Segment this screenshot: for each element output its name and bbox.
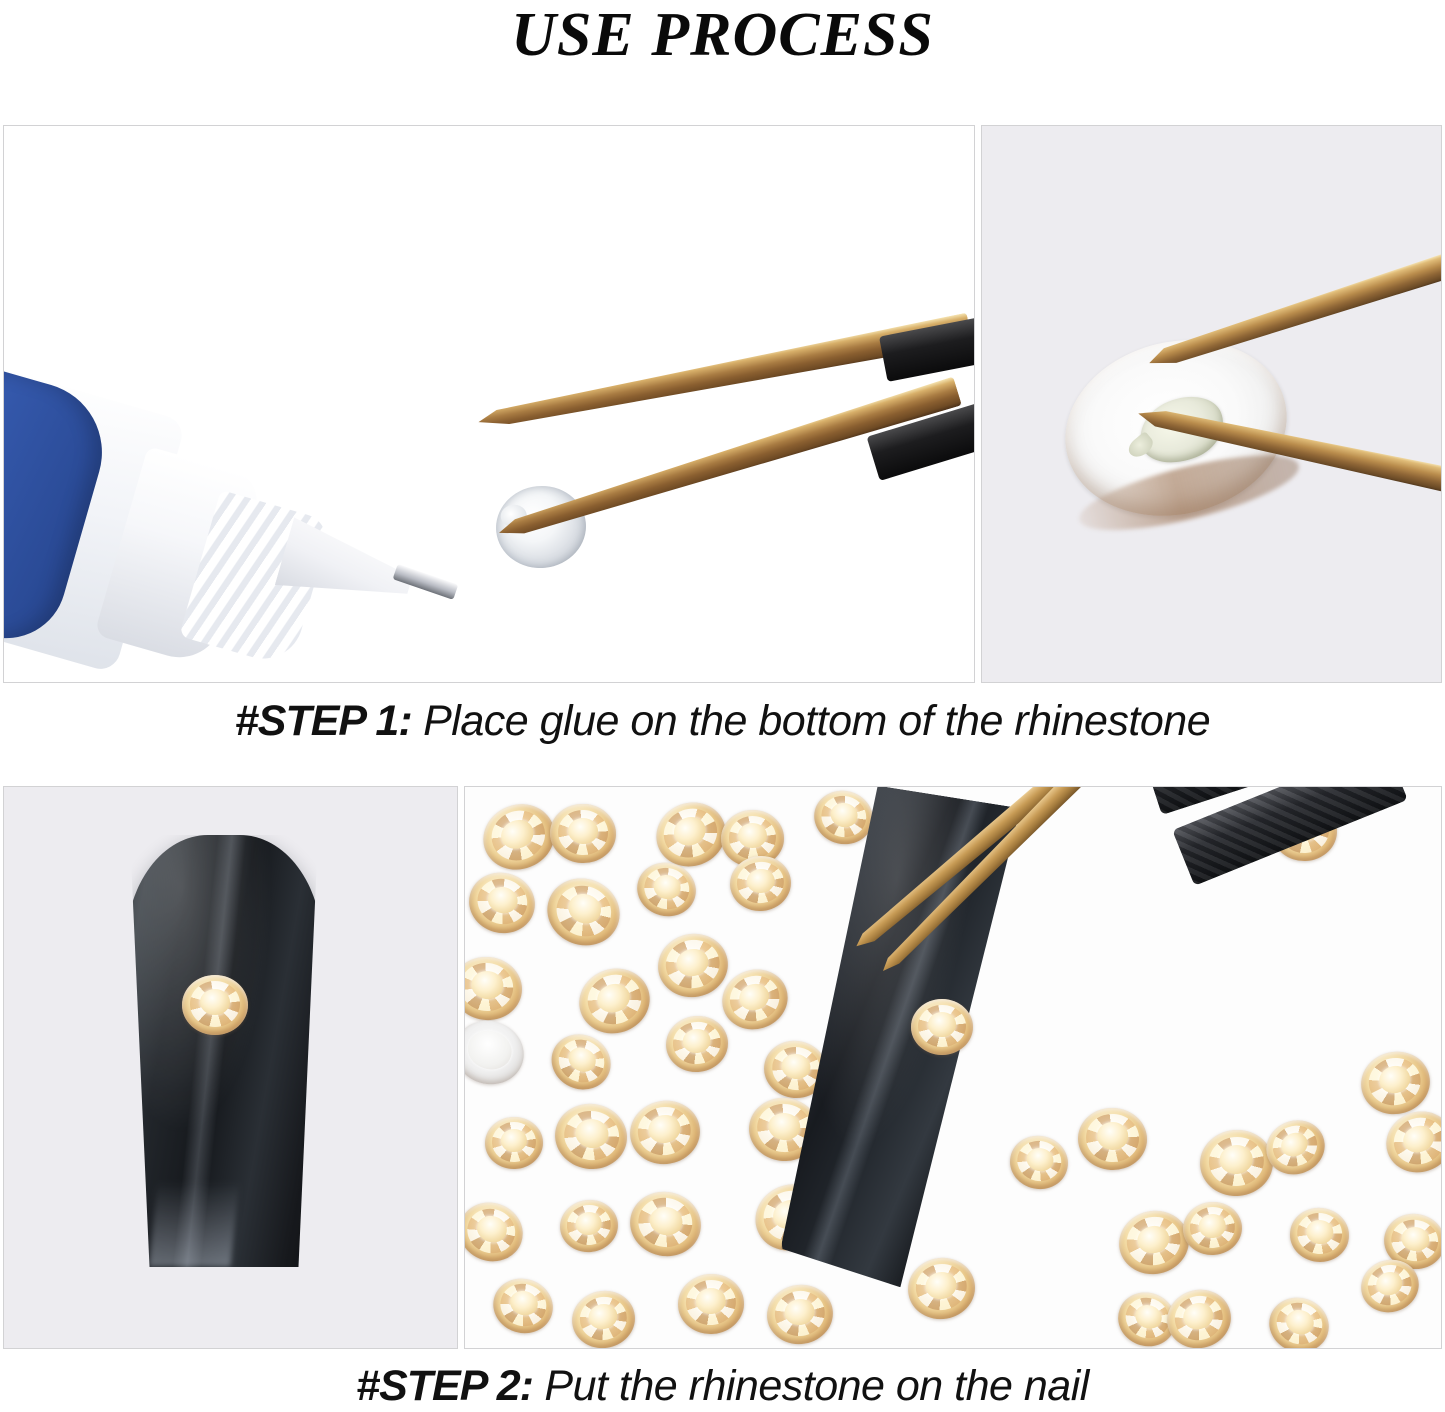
rhinestone [464, 866, 542, 941]
glue-nozzle-metal-tip [393, 564, 459, 600]
rhinestone [1378, 1103, 1442, 1181]
tweezer-handle-lower [1172, 786, 1408, 886]
finished-nail-photo [3, 786, 458, 1349]
rhinestone [625, 1095, 705, 1169]
rhinestone [551, 1099, 633, 1174]
rhinestone [676, 1272, 747, 1336]
step-2-panel-row [3, 786, 1442, 1349]
rhinestone [1287, 1205, 1352, 1265]
rhinestone [464, 953, 526, 1024]
rhinestone [543, 1025, 621, 1100]
step-2-label: #STEP 2: [356, 1362, 533, 1410]
rhinestone [571, 959, 659, 1042]
rhinestone [567, 1285, 640, 1349]
rhinestone [537, 868, 629, 955]
rhinestone [549, 802, 617, 864]
rhinestone [1113, 1204, 1195, 1281]
rhinestone [762, 1280, 837, 1349]
glue-bottle [3, 331, 347, 683]
rhinestone [1005, 1131, 1073, 1194]
step-1-caption: #STEP 1: Place glue on the bottom of the… [0, 697, 1445, 746]
dark-press-on-nail [126, 835, 322, 1267]
step-1-panel-row [3, 125, 1442, 683]
step-2-caption: #STEP 2: Put the rhinestone on the nail [0, 1362, 1445, 1411]
glue-applicator-photo [3, 125, 975, 683]
rhinestone [464, 1012, 531, 1093]
rhinestone [1160, 1283, 1237, 1349]
rhinestone [903, 1253, 979, 1324]
gold-tweezers [1022, 244, 1442, 574]
tweezer-arm-upper [1145, 235, 1442, 375]
page-title: USE PROCESS [0, 0, 1445, 120]
rhinestone [1262, 1290, 1336, 1349]
step-2-text: Put the rhinestone on the nail [533, 1362, 1089, 1410]
glued-rhinestone-photo [981, 125, 1442, 683]
step-1-text: Place glue on the bottom of the rhinesto… [412, 697, 1210, 745]
rhinestone [484, 1116, 544, 1170]
gold-tweezers [452, 286, 975, 586]
rhinestone [487, 1271, 561, 1341]
rhinestone [663, 1012, 731, 1075]
rhinestone-being-placed [911, 999, 973, 1055]
rhinestone [624, 1185, 706, 1262]
champagne-rhinestone [182, 975, 248, 1035]
rhinestone [464, 1194, 530, 1269]
rhinestone [557, 1196, 621, 1255]
rhinestone [1198, 1127, 1276, 1199]
step-1-label: #STEP 1: [235, 697, 412, 745]
rhinestone [1180, 1200, 1244, 1258]
rhinestone [652, 928, 733, 1003]
rhinestone [1076, 1106, 1148, 1172]
tweezer-arm-upper [849, 786, 1194, 956]
rhinestone-field-photo [464, 786, 1442, 1349]
